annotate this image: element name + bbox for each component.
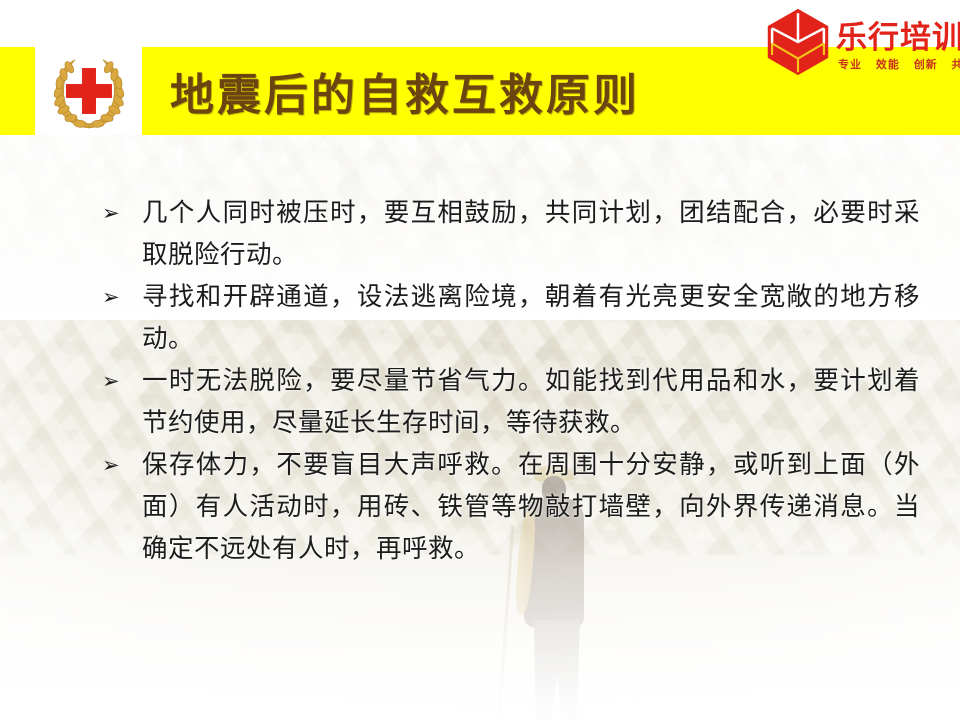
arrow-bullet-icon: ➢ <box>100 276 142 318</box>
red-cross-laurel-icon <box>48 50 130 132</box>
tagline-word-1: 专业 <box>838 58 862 71</box>
arrow-bullet-icon: ➢ <box>100 444 142 486</box>
arrow-bullet-icon: ➢ <box>100 360 142 402</box>
bullet-item: ➢ 保存体力，不要盲目大声呼救。在周围十分安静，或听到上面（外面）有人活动时，用… <box>100 444 920 570</box>
bullet-item: ➢ 几个人同时被压时，要互相鼓励，共同计划，团结配合，必要时采取脱险行动。 <box>100 192 920 276</box>
bullet-text: 寻找和开辟通道，设法逃离险境，朝着有光亮更安全宽敞的地方移动。 <box>142 276 920 360</box>
emblem-plate <box>35 47 142 135</box>
presentation-slide: 地震后的自救互救原则 乐 <box>0 0 960 720</box>
brand-tagline: 专业 效能 创新 共赢 <box>838 56 960 72</box>
tagline-word-4: 共赢 <box>952 58 960 71</box>
bullet-item: ➢ 一时无法脱险，要尽量节省气力。如能找到代用品和水，要计划着节约使用，尽量延长… <box>100 360 920 444</box>
brand-name: 乐行培训 <box>836 12 960 57</box>
bullet-text: 一时无法脱险，要尽量节省气力。如能找到代用品和水，要计划着节约使用，尽量延长生存… <box>142 360 920 444</box>
bullet-list: ➢ 几个人同时被压时，要互相鼓励，共同计划，团结配合，必要时采取脱险行动。 ➢ … <box>100 192 920 570</box>
bullet-item: ➢ 寻找和开辟通道，设法逃离险境，朝着有光亮更安全宽敞的地方移动。 <box>100 276 920 360</box>
page-title: 地震后的自救互救原则 <box>170 47 640 135</box>
tagline-word-3: 创新 <box>914 58 938 71</box>
tagline-word-2: 效能 <box>876 58 900 71</box>
cube-logo-icon <box>762 6 834 78</box>
brand-logo: 乐行培训 专业 效能 创新 共赢 <box>762 4 958 80</box>
arrow-bullet-icon: ➢ <box>100 192 142 234</box>
bullet-text: 几个人同时被压时，要互相鼓励，共同计划，团结配合，必要时采取脱险行动。 <box>142 192 920 276</box>
bullet-text: 保存体力，不要盲目大声呼救。在周围十分安静，或听到上面（外面）有人活动时，用砖、… <box>142 444 920 570</box>
